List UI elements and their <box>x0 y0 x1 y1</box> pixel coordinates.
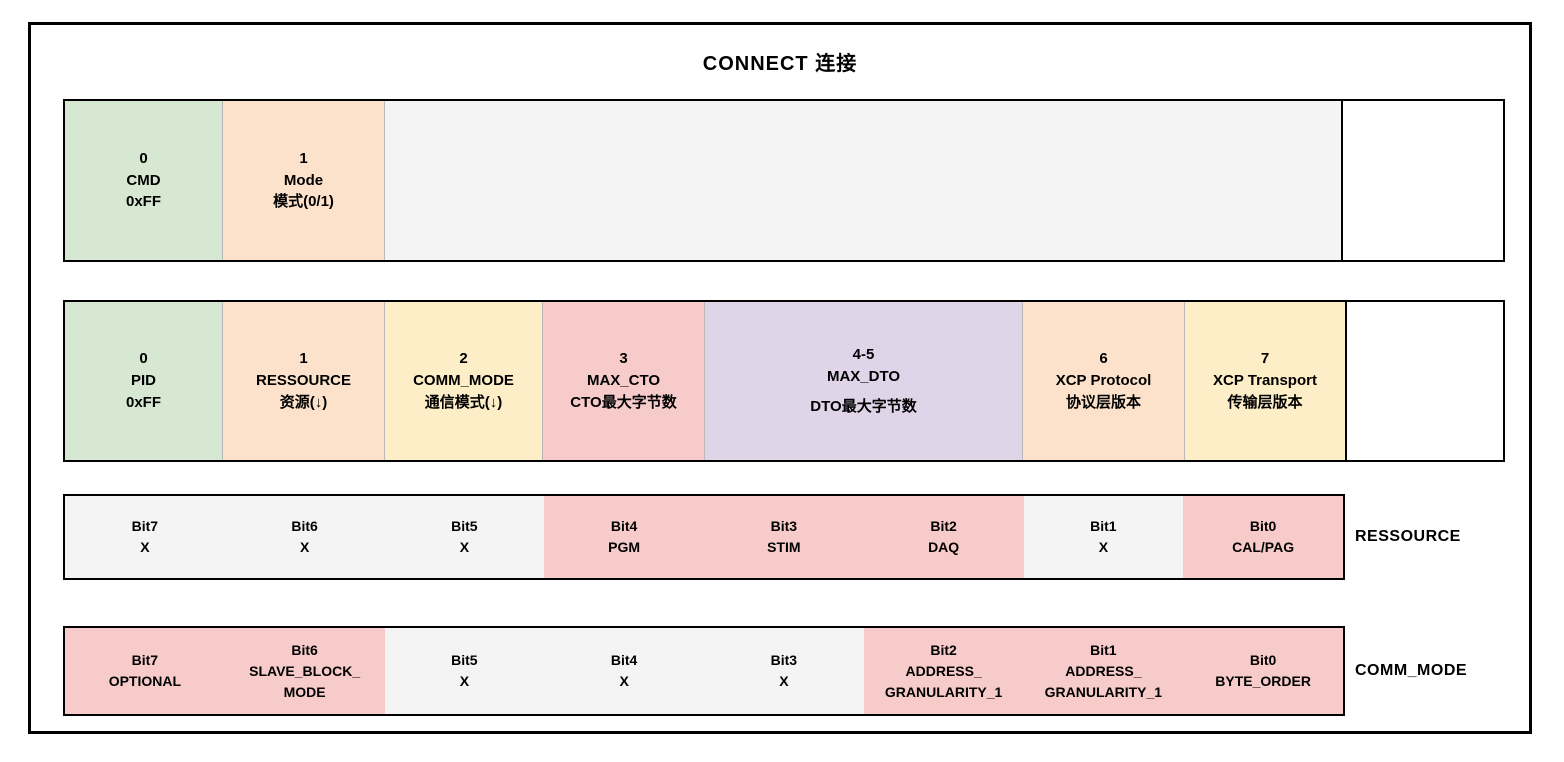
byte-cell-xcp-transport: 7XCP Transport传输层版本 <box>1185 302 1347 460</box>
bit-cell-bit4: Bit4X <box>544 628 704 714</box>
byte-cell-max-cto: 3MAX_CTOCTO最大字节数 <box>543 302 705 460</box>
byte-cell-mode: 1Mode模式(0/1) <box>223 101 385 260</box>
diagram-frame: CONNECT 连接 0CMD0xFF1Mode模式(0/1) 0PID0xFF… <box>28 22 1532 734</box>
byte-detail: 模式(0/1) <box>273 191 334 213</box>
commmode-label: COMM_MODE <box>1355 662 1505 680</box>
bit-index: Bit5 <box>451 650 477 671</box>
byte-cell-cmd: 0CMD0xFF <box>65 101 223 260</box>
connect-request-row: 0CMD0xFF1Mode模式(0/1) <box>63 99 1505 262</box>
byte-detail: 协议层版本 <box>1066 392 1141 414</box>
ressource-label: RESSOURCE <box>1355 528 1505 546</box>
bit-index: Bit6 <box>291 640 317 661</box>
bit-index: Bit2 <box>930 640 956 661</box>
byte-index: 7 <box>1261 348 1269 370</box>
bit-cell-bit0: Bit0BYTE_ORDER <box>1183 628 1343 714</box>
bit-index: Bit0 <box>1250 650 1276 671</box>
bit-cell-bit7: Bit7X <box>65 496 225 578</box>
bit-index: Bit4 <box>611 650 637 671</box>
byte-index: 1 <box>299 148 307 170</box>
bit-index: Bit3 <box>771 650 797 671</box>
commmode-bitfield: Bit7OPTIONALBit6SLAVE_BLOCK_MODEBit5XBit… <box>63 626 1505 716</box>
byte-cell-max-dto: 4-5MAX_DTODTO最大字节数 <box>705 302 1023 460</box>
bit-value-cont: GRANULARITY_1 <box>885 682 1002 703</box>
byte-name: MAX_CTO <box>587 370 660 392</box>
page-title: CONNECT 连接 <box>31 47 1529 76</box>
bit-index: Bit2 <box>930 516 956 537</box>
byte-index: 6 <box>1099 348 1107 370</box>
byte-name: CMD <box>126 170 160 192</box>
byte-index: 2 <box>459 348 467 370</box>
bit-value: STIM <box>767 537 800 558</box>
bit-cell-bit1: Bit1ADDRESS_GRANULARITY_1 <box>1024 628 1184 714</box>
bit-cell-bit5: Bit5X <box>385 628 545 714</box>
bit-index: Bit6 <box>291 516 317 537</box>
bit-cell-bit0: Bit0CAL/PAG <box>1183 496 1343 578</box>
bit-value: DAQ <box>928 537 959 558</box>
bit-value-cont: MODE <box>284 682 326 703</box>
byte-cell-empty <box>385 101 1343 260</box>
bit-cell-bit6: Bit6X <box>225 496 385 578</box>
bit-index: Bit4 <box>611 516 637 537</box>
bit-index: Bit1 <box>1090 640 1116 661</box>
ressource-bit-row: Bit7XBit6XBit5XBit4PGMBit3STIMBit2DAQBit… <box>63 494 1345 580</box>
bit-index: Bit1 <box>1090 516 1116 537</box>
bit-index: Bit3 <box>771 516 797 537</box>
bit-value: PGM <box>608 537 640 558</box>
bit-cell-bit3: Bit3X <box>704 628 864 714</box>
bit-cell-bit2: Bit2ADDRESS_GRANULARITY_1 <box>864 628 1024 714</box>
bit-value: CAL/PAG <box>1232 537 1294 558</box>
bit-value: X <box>140 537 149 558</box>
byte-index: 0 <box>139 348 147 370</box>
byte-detail: 0xFF <box>126 191 161 213</box>
bit-index: Bit0 <box>1250 516 1276 537</box>
byte-index: 4-5 <box>853 344 875 366</box>
bit-value: X <box>300 537 309 558</box>
byte-detail: 0xFF <box>126 392 161 414</box>
bit-cell-bit1: Bit1X <box>1024 496 1184 578</box>
byte-name: Mode <box>284 170 323 192</box>
bit-value: ADDRESS_ <box>1065 661 1141 682</box>
byte-name: XCP Transport <box>1213 370 1317 392</box>
commmode-bit-row: Bit7OPTIONALBit6SLAVE_BLOCK_MODEBit5XBit… <box>63 626 1345 716</box>
byte-name: PID <box>131 370 156 392</box>
byte-cell-empty <box>1347 302 1503 460</box>
connect-response-row: 0PID0xFF1RESSOURCE资源(↓)2COMM_MODE通信模式(↓)… <box>63 300 1505 462</box>
ressource-bitfield: Bit7XBit6XBit5XBit4PGMBit3STIMBit2DAQBit… <box>63 494 1505 580</box>
bit-cell-bit5: Bit5X <box>385 496 545 578</box>
byte-cell-comm-mode: 2COMM_MODE通信模式(↓) <box>385 302 543 460</box>
byte-detail: 通信模式(↓) <box>425 392 503 414</box>
bit-index: Bit7 <box>132 516 158 537</box>
bit-cell-bit4: Bit4PGM <box>544 496 704 578</box>
byte-cell-ressource: 1RESSOURCE资源(↓) <box>223 302 385 460</box>
byte-detail: DTO最大字节数 <box>810 396 916 418</box>
byte-detail: 资源(↓) <box>280 392 328 414</box>
byte-cell-pid: 0PID0xFF <box>65 302 223 460</box>
byte-index: 3 <box>619 348 627 370</box>
bit-cell-bit3: Bit3STIM <box>704 496 864 578</box>
bit-value: X <box>1099 537 1108 558</box>
byte-detail: 传输层版本 <box>1227 392 1302 414</box>
bit-value: ADDRESS_ <box>906 661 982 682</box>
bit-value: BYTE_ORDER <box>1215 671 1311 692</box>
bit-value: OPTIONAL <box>109 671 181 692</box>
byte-cell-xcp-protocol: 6XCP Protocol协议层版本 <box>1023 302 1185 460</box>
byte-cell-empty <box>1343 101 1503 260</box>
bit-value: X <box>619 671 628 692</box>
byte-detail: CTO最大字节数 <box>570 392 676 414</box>
bit-value: X <box>460 537 469 558</box>
bit-cell-bit2: Bit2DAQ <box>864 496 1024 578</box>
byte-name: RESSOURCE <box>256 370 351 392</box>
byte-name: XCP Protocol <box>1056 370 1152 392</box>
bit-value: SLAVE_BLOCK_ <box>249 661 360 682</box>
bit-cell-bit6: Bit6SLAVE_BLOCK_MODE <box>225 628 385 714</box>
byte-name: COMM_MODE <box>413 370 514 392</box>
bit-value-cont: GRANULARITY_1 <box>1045 682 1162 703</box>
byte-index: 1 <box>299 348 307 370</box>
bit-index: Bit7 <box>132 650 158 671</box>
bit-cell-bit7: Bit7OPTIONAL <box>65 628 225 714</box>
byte-index: 0 <box>139 148 147 170</box>
bit-index: Bit5 <box>451 516 477 537</box>
byte-name: MAX_DTO <box>827 366 900 388</box>
bit-value: X <box>779 671 788 692</box>
bit-value: X <box>460 671 469 692</box>
